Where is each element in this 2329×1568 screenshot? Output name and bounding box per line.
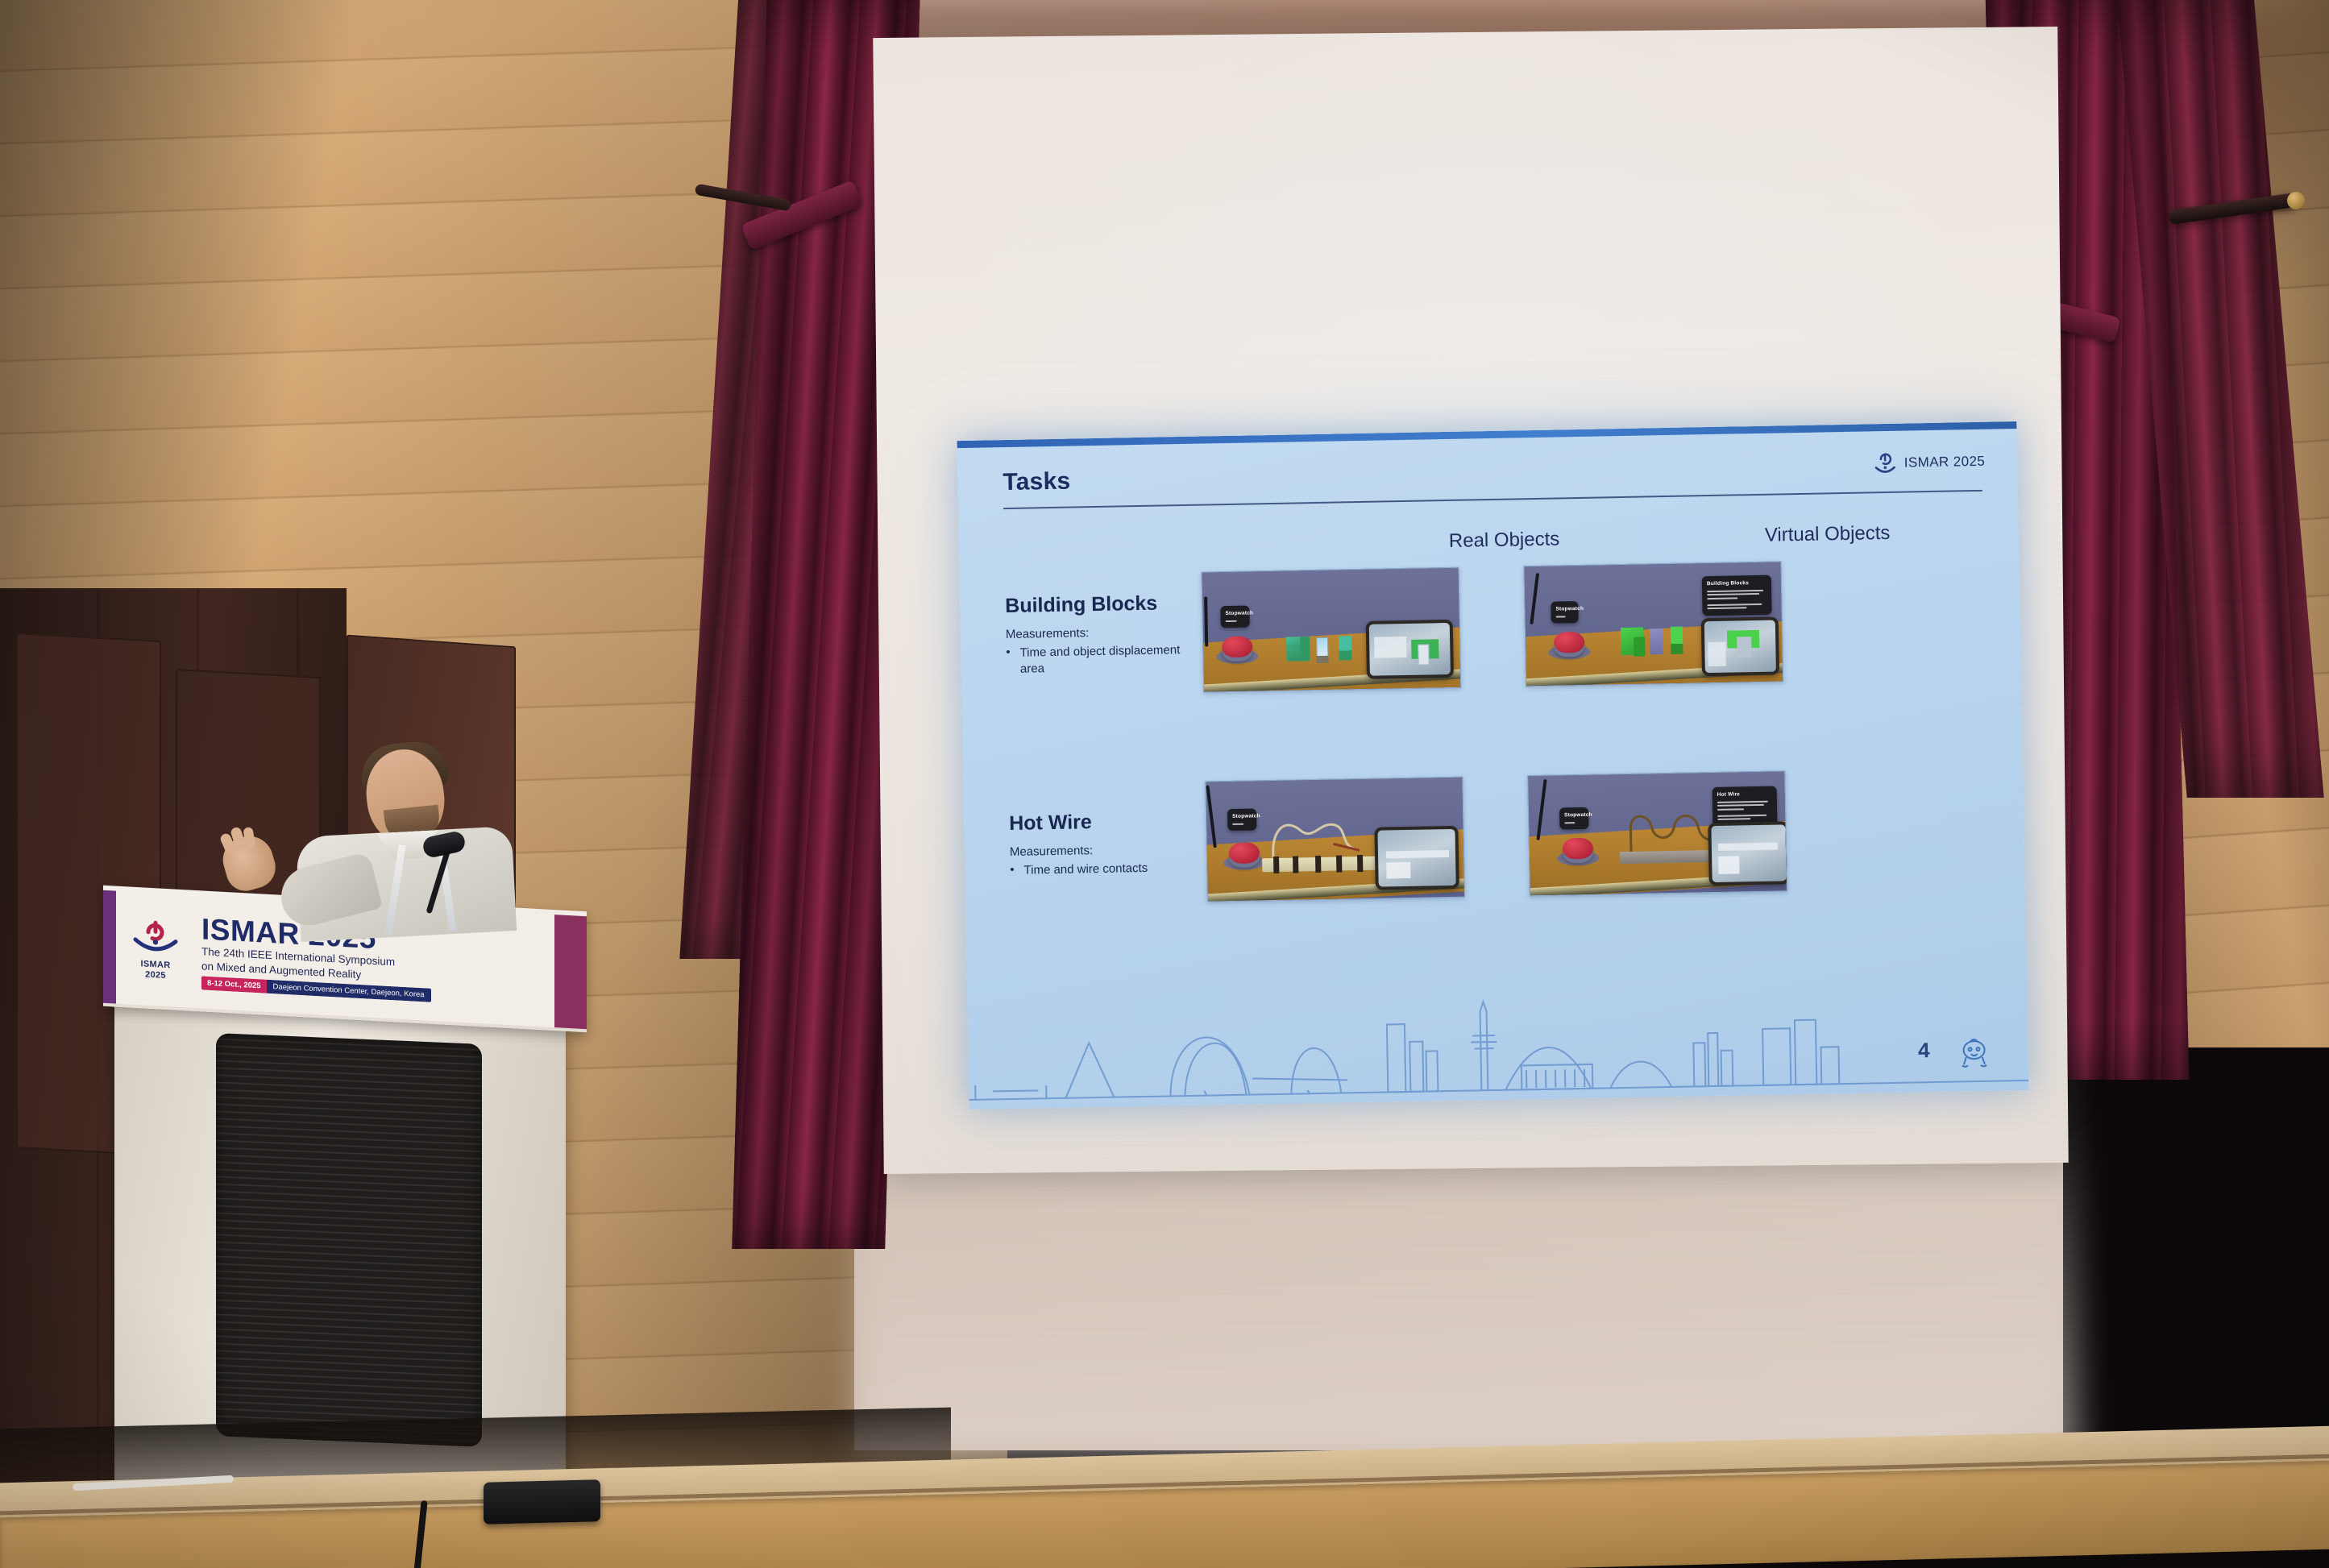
tablet-device[interactable] [1374, 826, 1459, 890]
foam-bar [1262, 856, 1385, 872]
row-label-hot-wire: Hot Wire Measurements: • Time and wire c… [1009, 810, 1148, 879]
tablet-device[interactable] [1701, 616, 1779, 676]
block-l-leg [1634, 637, 1645, 657]
bullet-text: Time and object displacement area [1019, 641, 1207, 678]
slide-logo-text: ISMAR 2025 [1904, 454, 1986, 471]
stopwatch-label: Stopwatch [1555, 605, 1573, 613]
column-header-virtual: Virtual Objects [1765, 522, 1891, 547]
slide-page-number: 4 [1918, 1038, 1930, 1063]
row-bullet: • Time and object displacement area [1006, 641, 1208, 678]
row-label-building-blocks: Building Blocks Measurements: • Time and… [1005, 591, 1208, 678]
instruction-panel-title: Building Blocks [1707, 579, 1766, 588]
stopwatch-label: Stopwatch [1225, 610, 1244, 619]
ismar-swoosh-icon [1873, 451, 1898, 476]
tile-virtual-building-blocks: Stopwatch Building Blocks [1523, 561, 1783, 687]
stopwatch-hud: Stopwatch [1227, 808, 1256, 831]
speaker [242, 741, 516, 927]
lectern-grille-panel [216, 1033, 482, 1447]
bullet-marker-icon: • [1006, 645, 1011, 678]
tablet-screen [1704, 620, 1776, 674]
banner-logo: ISMAR 2025 [121, 917, 190, 982]
slide-title: Tasks [1003, 468, 1070, 497]
instruction-panel-title: Hot Wire [1717, 790, 1772, 799]
hot-wire-course-icon [1263, 807, 1385, 858]
row-title: Building Blocks [1005, 591, 1206, 618]
block-purple [1650, 628, 1663, 654]
row-title: Hot Wire [1009, 810, 1147, 836]
red-buzzer-button[interactable] [1563, 838, 1593, 860]
banner-date-chip: 8-12 Oct., 2025 [201, 977, 267, 993]
stopwatch-hud: Stopwatch [1551, 601, 1578, 624]
curtain-rod-finial [2287, 192, 2305, 209]
tile-virtual-hot-wire: Stopwatch Hot Wire [1527, 770, 1787, 896]
block-green-tall [1671, 627, 1683, 654]
tile-real-hot-wire: Stopwatch [1205, 777, 1465, 902]
red-buzzer-button[interactable] [1222, 636, 1252, 657]
clamp [1315, 856, 1321, 873]
slide-logo: ISMAR 2025 [1873, 450, 1986, 476]
clamp [1336, 855, 1342, 872]
presentation-slide: Tasks ISMAR 2025 Real Objects Virtual Ob… [957, 421, 2029, 1110]
stopwatch-label: Stopwatch [1564, 811, 1584, 820]
stopwatch-label: Stopwatch [1232, 812, 1252, 821]
stopwatch-hud: Stopwatch [1220, 606, 1249, 628]
block-white-shadow [1316, 656, 1328, 663]
ismar-mascot-icon [1955, 1035, 1993, 1072]
red-buzzer-button[interactable] [1554, 632, 1584, 653]
block-l-leg [1300, 637, 1310, 661]
tile-real-building-blocks: Stopwatch [1202, 567, 1462, 693]
tablet-screen [1369, 623, 1451, 676]
stage-floor-monitor[interactable] [484, 1479, 600, 1524]
stopwatch-hud: Stopwatch [1559, 807, 1588, 830]
tablet-screen [1377, 829, 1455, 887]
column-header-real: Real Objects [1449, 528, 1560, 553]
daejeon-skyline-line-art [967, 977, 2028, 1110]
bullet-text: Time and wire contacts [1023, 861, 1148, 879]
bullet-marker-icon: • [1010, 863, 1015, 879]
red-buzzer-button[interactable] [1229, 842, 1260, 864]
ismar-logo-icon [131, 944, 181, 960]
clamp [1357, 855, 1363, 872]
row-subtitle: Measurements: [1010, 843, 1148, 859]
slide-title-rule [1003, 490, 1982, 509]
tablet-screen [1711, 824, 1786, 882]
row-subtitle: Measurements: [1006, 624, 1207, 641]
row-bullet: • Time and wire contacts [1010, 861, 1148, 879]
clamp [1273, 857, 1279, 873]
instruction-panel: Building Blocks [1702, 575, 1772, 616]
block-green-tall [1339, 636, 1352, 660]
tablet-device[interactable] [1366, 620, 1454, 679]
auditorium-scene: Tasks ISMAR 2025 Real Objects Virtual Ob… [0, 0, 2329, 1568]
tablet-device[interactable] [1708, 821, 1787, 886]
clamp [1293, 856, 1298, 873]
